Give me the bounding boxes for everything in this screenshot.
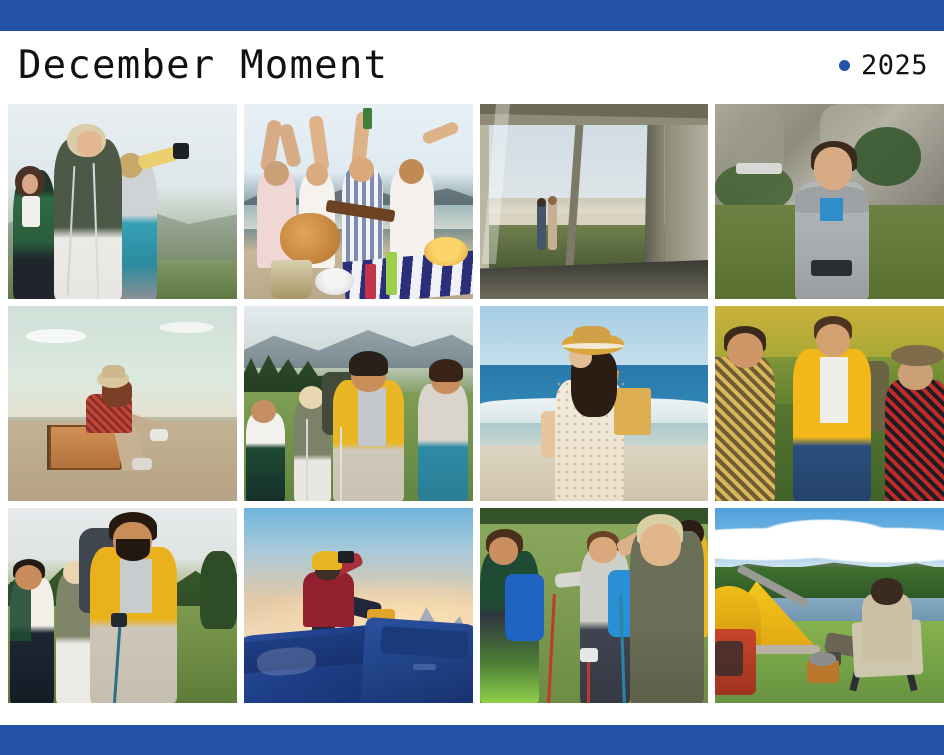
- slide-header: December Moment 2025: [0, 31, 944, 100]
- photo-hikers-blue-backpacks-meadow: [480, 508, 709, 703]
- gallery-photo-11[interactable]: [480, 508, 709, 703]
- gallery-photo-6[interactable]: [244, 306, 473, 501]
- photo-van-window-beach-couple: [480, 104, 709, 299]
- gallery-photo-7[interactable]: [480, 306, 709, 501]
- photo-autumn-hikers-yellow-jacket: [715, 306, 944, 501]
- gallery-photo-10[interactable]: [244, 508, 473, 703]
- gallery-photo-4[interactable]: [715, 104, 944, 299]
- photo-woman-suitcase-desert: [8, 306, 237, 501]
- photo-group-hiking-meadow: [244, 306, 473, 501]
- photo-hikers-selfie-ridge: [8, 104, 237, 299]
- photo-woman-beach-straw-hat: [480, 306, 709, 501]
- page-title: December Moment: [18, 46, 388, 85]
- photo-friends-picnic-guitar: [244, 104, 473, 299]
- photo-traveler-car-roof-sunset: [244, 508, 473, 703]
- photo-backpacker-field-friends: [8, 508, 237, 703]
- bottom-accent-bar: [0, 725, 944, 755]
- photo-gallery-grid: [8, 104, 944, 703]
- gallery-photo-2[interactable]: [244, 104, 473, 299]
- gallery-photo-12[interactable]: [715, 508, 944, 703]
- gallery-photo-8[interactable]: [715, 306, 944, 501]
- gallery-photo-5[interactable]: [8, 306, 237, 501]
- gallery-photo-1[interactable]: [8, 104, 237, 299]
- photo-man-drone-controller-cliff: [715, 104, 944, 299]
- gallery-photo-3[interactable]: [480, 104, 709, 299]
- top-accent-bar: [0, 0, 944, 31]
- year-label: 2025: [861, 52, 928, 79]
- bullet-dot-icon: [839, 60, 850, 71]
- gallery-photo-9[interactable]: [8, 508, 237, 703]
- year-badge: 2025: [839, 52, 930, 79]
- photo-yellow-tent-lake-camper: [715, 508, 944, 703]
- slide-canvas: December Moment 2025: [0, 0, 944, 755]
